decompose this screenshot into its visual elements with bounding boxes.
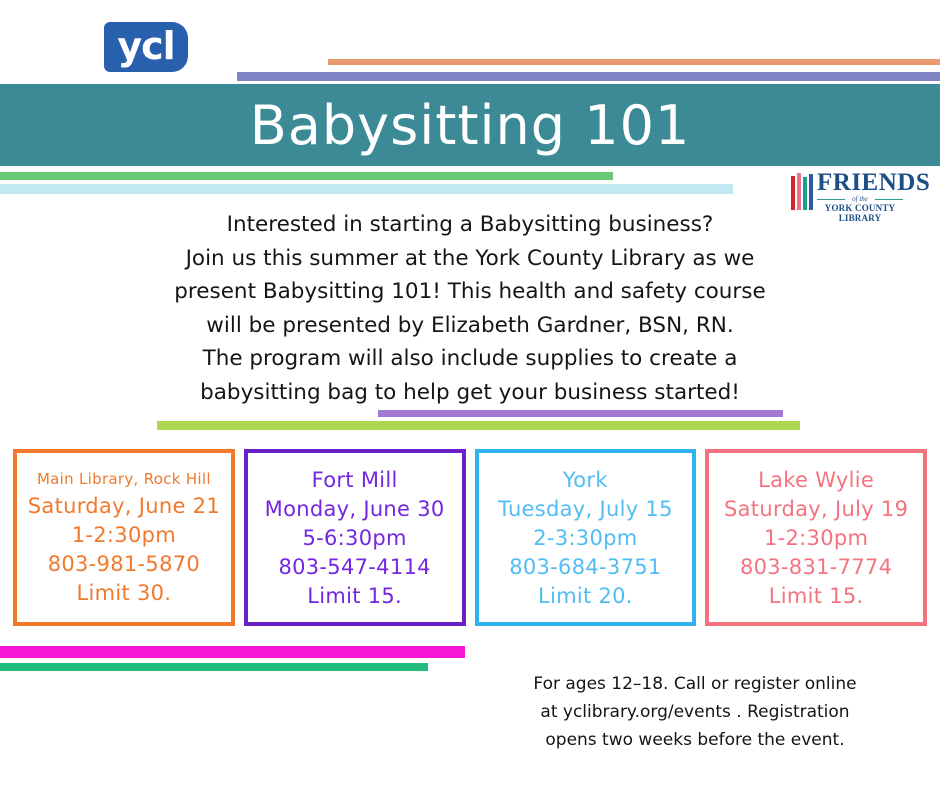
intro-line: present Babysitting 101! This health and… [90, 275, 850, 309]
location-limit: Limit 15. [709, 582, 923, 611]
footer-line: opens two weeks before the event. [480, 726, 910, 754]
location-time: 1-2:30pm [17, 521, 231, 550]
location-limit: Limit 20. [479, 582, 693, 611]
decor-rule-orange-top [328, 59, 940, 65]
location-name: Lake Wylie [709, 466, 923, 495]
location-time: 1-2:30pm [709, 524, 923, 553]
location-phone: 803-684-3751 [479, 553, 693, 582]
location-name: Fort Mill [248, 466, 462, 495]
decor-rule-green-under-title [0, 172, 613, 180]
location-card-main-library-rock-hill[interactable]: Main Library, Rock Hill Saturday, June 2… [13, 449, 235, 626]
ycl-logo: ycl [104, 22, 188, 72]
location-name: Main Library, Rock Hill [17, 466, 231, 492]
location-limit: Limit 30. [17, 579, 231, 608]
friends-of-the-text: of the [817, 195, 903, 203]
location-time: 2-3:30pm [479, 524, 693, 553]
decor-rule-magenta-bottom [0, 646, 465, 658]
location-date: Saturday, July 19 [709, 495, 923, 524]
location-date: Monday, June 30 [248, 495, 462, 524]
footer-line: For ages 12–18. Call or register online [480, 670, 910, 698]
title-band: Babysitting 101 [0, 84, 940, 166]
location-card-york[interactable]: York Tuesday, July 15 2-3:30pm 803-684-3… [475, 449, 697, 626]
decor-rule-lime-mid [157, 421, 800, 430]
location-card-fort-mill[interactable]: Fort Mill Monday, June 30 5-6:30pm 803-5… [244, 449, 466, 626]
location-phone: 803-831-7774 [709, 553, 923, 582]
intro-paragraph: Interested in starting a Babysitting bus… [90, 208, 850, 409]
location-card-list: Main Library, Rock Hill Saturday, June 2… [13, 449, 927, 626]
location-card-lake-wylie[interactable]: Lake Wylie Saturday, July 19 1-2:30pm 80… [705, 449, 927, 626]
intro-line: Interested in starting a Babysitting bus… [90, 208, 850, 242]
footer-note: For ages 12–18. Call or register online … [480, 670, 910, 754]
location-phone: 803-547-4114 [248, 553, 462, 582]
intro-line: The program will also include supplies t… [90, 342, 850, 376]
location-date: Saturday, June 21 [17, 492, 231, 521]
decor-rule-emerald-bottom [0, 663, 428, 671]
intro-line: babysitting bag to help get your busines… [90, 376, 850, 410]
location-name: York [479, 466, 693, 495]
decor-rule-periwinkle-top [237, 72, 940, 81]
friends-wordmark: FRIENDS [817, 170, 930, 196]
location-phone: 803-981-5870 [17, 550, 231, 579]
location-limit: Limit 15. [248, 582, 462, 611]
decor-rule-purple-mid [378, 410, 783, 417]
flyer-canvas: ycl Babysitting 101 FRIENDS of the YORK … [0, 0, 940, 788]
footer-line: at yclibrary.org/events . Registration [480, 698, 910, 726]
page-title: Babysitting 101 [250, 94, 691, 157]
intro-line: Join us this summer at the York County L… [90, 242, 850, 276]
location-time: 5-6:30pm [248, 524, 462, 553]
decor-rule-lightblue-under-title [0, 184, 733, 194]
intro-line: will be presented by Elizabeth Gardner, … [90, 309, 850, 343]
book-spines-icon [791, 172, 813, 210]
location-date: Tuesday, July 15 [479, 495, 693, 524]
